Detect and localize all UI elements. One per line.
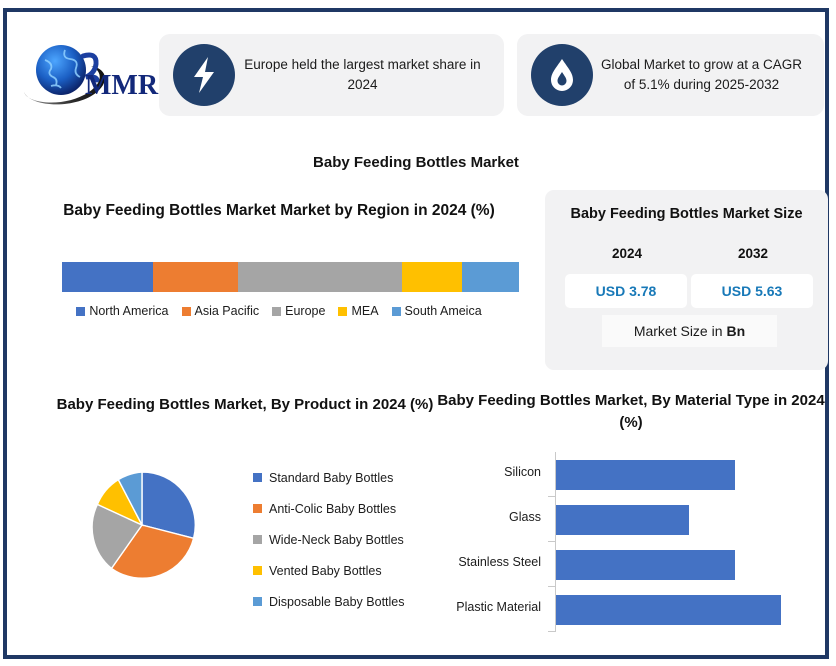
material-bar — [556, 460, 735, 490]
product-chart-legend: Standard Baby Bottles Anti-Colic Baby Bo… — [253, 462, 405, 617]
legend-label: Vented Baby Bottles — [269, 564, 382, 578]
material-bar — [556, 505, 689, 535]
legend-item-mea: MEA — [338, 304, 378, 318]
legend-label: Wide-Neck Baby Bottles — [269, 533, 404, 547]
legend-swatch-icon — [253, 473, 262, 482]
product-pie-chart — [87, 470, 197, 580]
fact-card-region: Europe held the largest market share in … — [159, 34, 504, 116]
legend-item-asia-pacific: Asia Pacific — [182, 304, 260, 318]
pie-legend-item-wide-neck: Wide-Neck Baby Bottles — [253, 524, 405, 555]
material-bar — [556, 550, 735, 580]
market-size-unit-prefix: Market Size in — [634, 323, 723, 339]
axis-tick — [548, 631, 555, 632]
material-label: Plastic Material — [381, 600, 541, 614]
legend-item-europe: Europe — [272, 304, 325, 318]
legend-swatch-icon — [253, 535, 262, 544]
svg-text:MMR: MMR — [85, 70, 159, 101]
region-stacked-bar — [62, 262, 519, 292]
legend-swatch-icon — [392, 307, 401, 316]
legend-label: MEA — [351, 304, 378, 318]
material-chart-title: Baby Feeding Bottles Market, By Material… — [435, 390, 827, 434]
legend-label: Standard Baby Bottles — [269, 471, 393, 485]
legend-swatch-icon — [253, 504, 262, 513]
legend-label: South Ameica — [405, 304, 482, 318]
material-label: Stainless Steel — [381, 555, 541, 569]
legend-swatch-icon — [253, 566, 262, 575]
material-row-plastic-material: Plastic Material — [435, 587, 827, 632]
market-size-title: Baby Feeding Bottles Market Size — [545, 204, 828, 224]
fact-card-region-text: Europe held the largest market share in … — [235, 55, 490, 94]
legend-item-north-america: North America — [76, 304, 168, 318]
market-size-year-2032: 2032 — [693, 246, 813, 261]
legend-label: Anti-Colic Baby Bottles — [269, 502, 396, 516]
flame-drop-icon — [531, 44, 593, 106]
region-chart-legend: North America Asia Pacific Europe MEA So… — [29, 304, 529, 318]
legend-swatch-icon — [76, 307, 85, 316]
legend-swatch-icon — [253, 597, 262, 606]
market-size-year-2024: 2024 — [567, 246, 687, 261]
legend-label: North America — [89, 304, 168, 318]
page-title: Baby Feeding Bottles Market — [7, 154, 825, 171]
lightning-bolt-icon — [173, 44, 235, 106]
legend-label: Asia Pacific — [195, 304, 260, 318]
region-segment-europe — [238, 262, 403, 292]
legend-label: Europe — [285, 304, 325, 318]
region-segment-north-america — [62, 262, 153, 292]
material-row-glass: Glass — [435, 497, 827, 542]
material-chart-panel: Baby Feeding Bottles Market, By Material… — [435, 390, 827, 644]
header-bar: MMR Europe held the largest market share… — [7, 12, 825, 134]
fact-card-cagr: Global Market to grow at a CAGR of 5.1% … — [517, 34, 824, 116]
material-bar — [556, 595, 781, 625]
legend-item-south-america: South Ameica — [392, 304, 482, 318]
material-label: Silicon — [381, 465, 541, 479]
infographic-canvas: MMR Europe held the largest market share… — [3, 8, 829, 659]
region-chart-title: Baby Feeding Bottles Market Market by Re… — [29, 200, 529, 222]
material-bar-chart: Silicon Glass Stainless Steel Plastic Ma… — [435, 452, 827, 642]
fact-card-cagr-text: Global Market to grow at a CAGR of 5.1% … — [593, 55, 810, 94]
legend-swatch-icon — [182, 307, 191, 316]
material-row-silicon: Silicon — [435, 452, 827, 497]
market-size-unit-value: Bn — [727, 323, 746, 339]
mmr-logo: MMR — [21, 40, 161, 112]
material-row-stainless-steel: Stainless Steel — [435, 542, 827, 587]
region-segment-mea — [402, 262, 461, 292]
material-label: Glass — [381, 510, 541, 524]
product-chart-title: Baby Feeding Bottles Market, By Product … — [25, 394, 445, 416]
legend-swatch-icon — [272, 307, 281, 316]
market-size-card: Baby Feeding Bottles Market Size 2024 20… — [545, 190, 828, 370]
market-size-value-2024: USD 3.78 — [565, 274, 687, 308]
region-chart-panel: Baby Feeding Bottles Market Market by Re… — [29, 200, 529, 342]
region-segment-south-america — [462, 262, 519, 292]
market-size-unit-label: Market Size in Bn — [602, 315, 777, 347]
market-size-value-2032: USD 5.63 — [691, 274, 813, 308]
region-segment-asia-pacific — [153, 262, 238, 292]
legend-swatch-icon — [338, 307, 347, 316]
